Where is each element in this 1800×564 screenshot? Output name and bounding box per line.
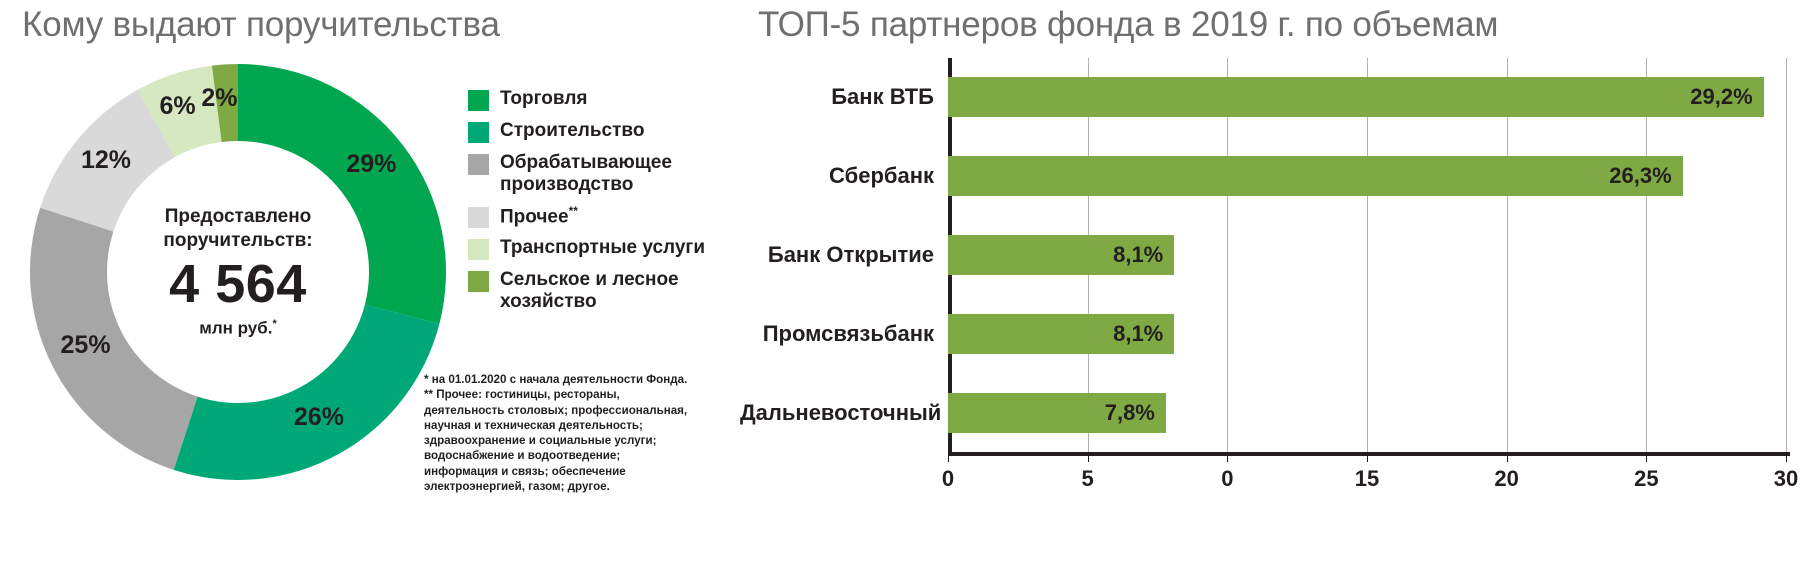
legend-swatch-icon xyxy=(468,122,489,143)
bar-track: 26,3% xyxy=(948,147,1800,205)
legend-footnote-marker: ** xyxy=(569,204,578,218)
bar-track: 7,8% xyxy=(948,384,1800,442)
legend-swatch-icon xyxy=(468,207,489,228)
legend-item[interactable]: Прочее** xyxy=(468,205,718,228)
donut-svg xyxy=(28,62,448,482)
legend-item[interactable]: Сельское и лесное хозяйство xyxy=(468,269,718,313)
legend-item-label: Строительство xyxy=(500,120,644,142)
donut-slice xyxy=(30,208,198,470)
bar-category-label: Сбербанк xyxy=(740,163,948,189)
bar-row[interactable]: Банк Открытие8,1% xyxy=(740,226,1800,284)
bar-row[interactable]: Банк ВТБ29,2% xyxy=(740,68,1800,126)
bar-category-label: Банк ВТБ xyxy=(740,84,948,110)
bar-category-label: Банк Открытие xyxy=(740,242,948,268)
donut-slice-label: 6% xyxy=(159,92,195,121)
bar-value-label: 8,1% xyxy=(1113,242,1174,268)
donut-chart-panel: Кому выдают поручительства Предоставлено… xyxy=(0,0,740,564)
bar-fill[interactable]: 29,2% xyxy=(948,77,1764,117)
page-title-donut: Кому выдают поручительства xyxy=(22,5,500,45)
bar-fill[interactable]: 7,8% xyxy=(948,393,1166,433)
bar-row[interactable]: Дальневосточный7,8% xyxy=(740,384,1800,442)
footnote-line: деятельность столовых; профессиональная, xyxy=(424,403,724,418)
legend-item-label: Прочее** xyxy=(500,205,578,228)
legend-swatch-icon xyxy=(468,239,489,260)
legend-swatch-icon xyxy=(468,154,489,175)
legend-item-label: Торговля xyxy=(500,88,587,110)
bar-chart-rows: Банк ВТБ29,2%Сбербанк26,3%Банк Открытие8… xyxy=(740,58,1800,508)
donut-slice xyxy=(238,64,446,324)
footnote-line: здравоохранение и социальные услуги; xyxy=(424,433,724,448)
bar-row[interactable]: Сбербанк26,3% xyxy=(740,147,1800,205)
bar-value-label: 8,1% xyxy=(1113,321,1174,347)
donut-slice-label: 25% xyxy=(61,331,111,360)
donut-slice-label: 12% xyxy=(81,146,131,175)
bar-track: 8,1% xyxy=(948,226,1800,284)
bar-category-label: Дальневосточный xyxy=(740,400,948,426)
bar-fill[interactable]: 26,3% xyxy=(948,156,1683,196)
donut-chart: Предоставлено поручительств: 4 564 млн р… xyxy=(28,62,448,482)
footnote-text: * на 01.01.2020 с начала деятельности Фо… xyxy=(424,372,724,494)
donut-slice xyxy=(174,305,440,480)
footnote-line: ** Прочее: гостиницы, рестораны, xyxy=(424,387,724,402)
bar-value-label: 7,8% xyxy=(1105,400,1166,426)
footnote-line: водоснабжение и водоотведение; xyxy=(424,448,724,463)
legend-item[interactable]: Торговля xyxy=(468,88,718,111)
bar-row[interactable]: Промсвязьбанк8,1% xyxy=(740,305,1800,363)
bar-fill[interactable]: 8,1% xyxy=(948,314,1174,354)
legend-item-label: Обрабатывающее производство xyxy=(500,152,718,196)
legend-item[interactable]: Транспортные услуги xyxy=(468,237,718,260)
footnote-line: информация и связь; обеспечение xyxy=(424,464,724,479)
legend-item[interactable]: Обрабатывающее производство xyxy=(468,152,718,196)
bar-chart-panel: ТОП-5 партнеров фонда в 2019 г. по объем… xyxy=(740,0,1800,564)
footnote-line: электроэнергией, газом; другое. xyxy=(424,479,724,494)
bar-fill[interactable]: 8,1% xyxy=(948,235,1174,275)
bar-track: 8,1% xyxy=(948,305,1800,363)
legend-item-label: Транспортные услуги xyxy=(500,237,705,259)
footnote-line: научная и техническая деятельность; xyxy=(424,418,724,433)
page-title-bars: ТОП-5 партнеров фонда в 2019 г. по объем… xyxy=(758,5,1498,45)
donut-slice-label: 29% xyxy=(346,150,396,179)
bar-track: 29,2% xyxy=(948,68,1800,126)
bar-value-label: 26,3% xyxy=(1609,163,1682,189)
legend-swatch-icon xyxy=(468,90,489,111)
legend-item-label: Сельское и лесное хозяйство xyxy=(500,269,718,313)
bar-category-label: Промсвязьбанк xyxy=(740,321,948,347)
donut-slice-label: 2% xyxy=(201,84,237,113)
bar-value-label: 29,2% xyxy=(1690,84,1763,110)
donut-legend: ТорговляСтроительствоОбрабатывающее прои… xyxy=(468,88,718,322)
legend-swatch-icon xyxy=(468,271,489,292)
donut-slice-label: 26% xyxy=(294,403,344,432)
legend-item[interactable]: Строительство xyxy=(468,120,718,143)
footnote-line: * на 01.01.2020 с начала деятельности Фо… xyxy=(424,372,724,387)
